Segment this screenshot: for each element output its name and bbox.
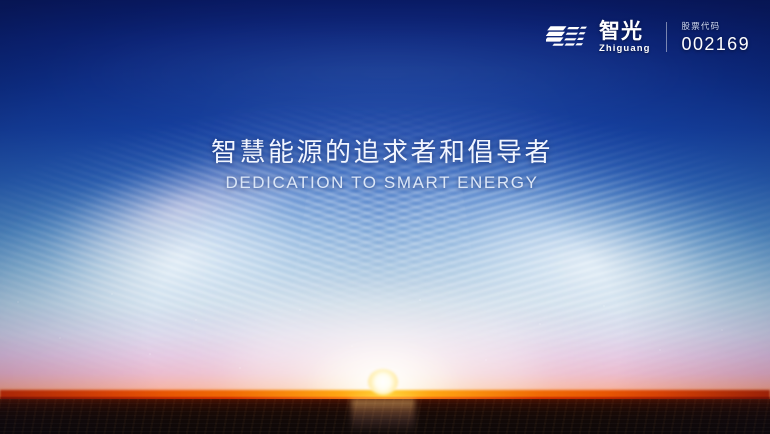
slogan-block: 智慧能源的追求者和倡导者 DEDICATION TO SMART ENERGY (0, 138, 770, 193)
stock-code-value: 002169 (682, 35, 750, 53)
sky-background-image (0, 0, 770, 434)
brand-name-cn: 智光 (599, 21, 651, 42)
slogan-chinese: 智慧能源的追求者和倡导者 (0, 138, 764, 168)
brand-name-en: Zhiguang (599, 44, 651, 54)
brand-name: 智光 Zhiguang (599, 21, 651, 54)
slogan-english: DEDICATION TO SMART ENERGY (0, 173, 764, 193)
hero-banner: 智光 Zhiguang 股票代码 002169 智慧能源的追求者和倡导者 DED… (0, 0, 770, 434)
brand-logo-block[interactable]: 智光 Zhiguang 股票代码 002169 (546, 21, 750, 54)
stock-code-label: 股票代码 (682, 22, 750, 31)
vignette-overlay (0, 0, 770, 434)
zhiguang-wave-mark-icon (546, 23, 588, 51)
logo-divider (666, 22, 667, 52)
stock-code-block: 股票代码 002169 (682, 22, 750, 53)
